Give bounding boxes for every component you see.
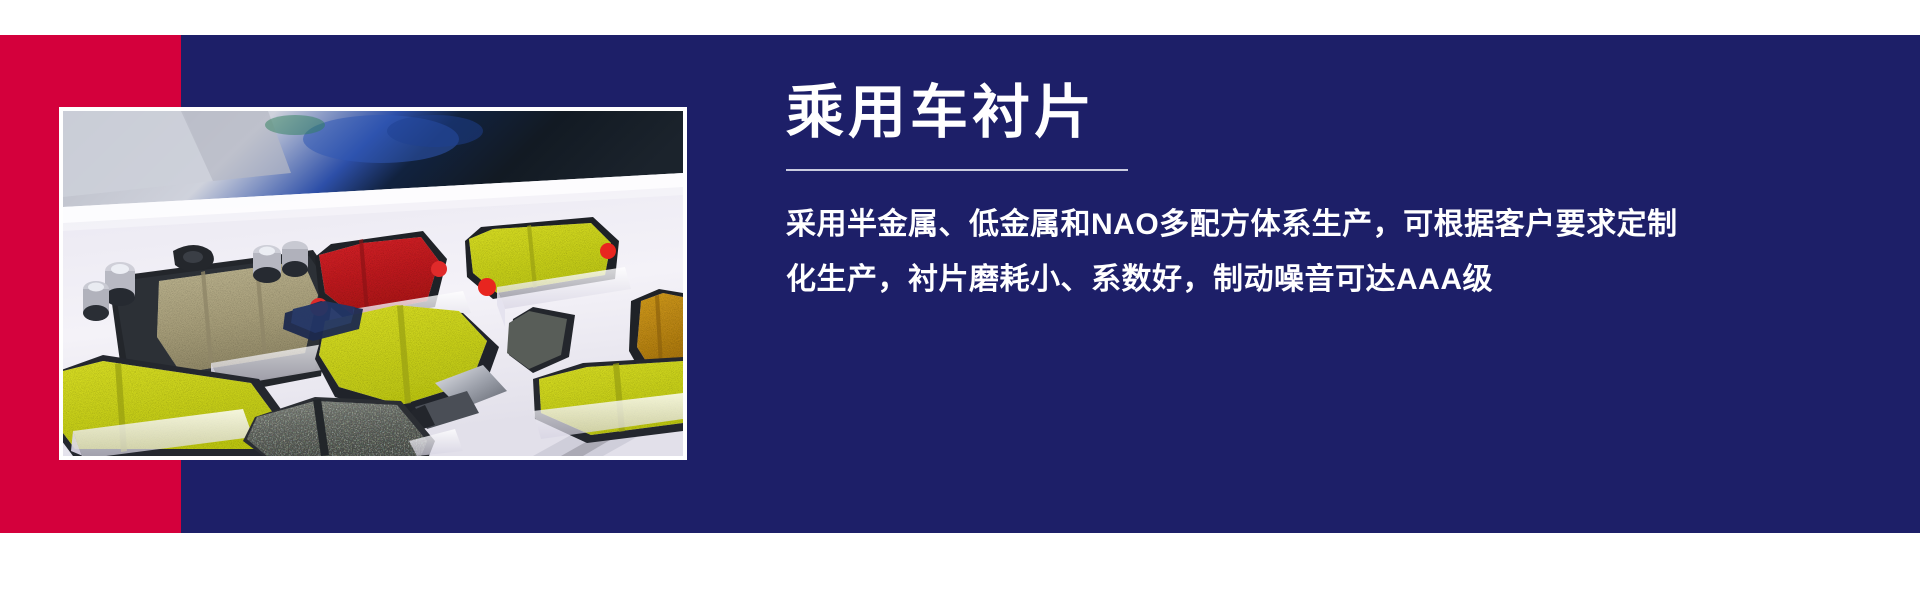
banner-text-column: 乘用车衬片 采用半金属、低金属和NAO多配方体系生产，可根据客户要求定制化生产，… [786,80,1866,308]
banner-stage: 乘用车衬片 采用半金属、低金属和NAO多配方体系生产，可根据客户要求定制化生产，… [0,0,1920,600]
page-title: 乘用车衬片 [786,80,1866,147]
brake-pad-display-photo [63,111,683,456]
banner-description: 采用半金属、低金属和NAO多配方体系生产，可根据客户要求定制化生产，衬片磨耗小、… [786,171,1686,308]
product-photo-card [59,107,687,460]
